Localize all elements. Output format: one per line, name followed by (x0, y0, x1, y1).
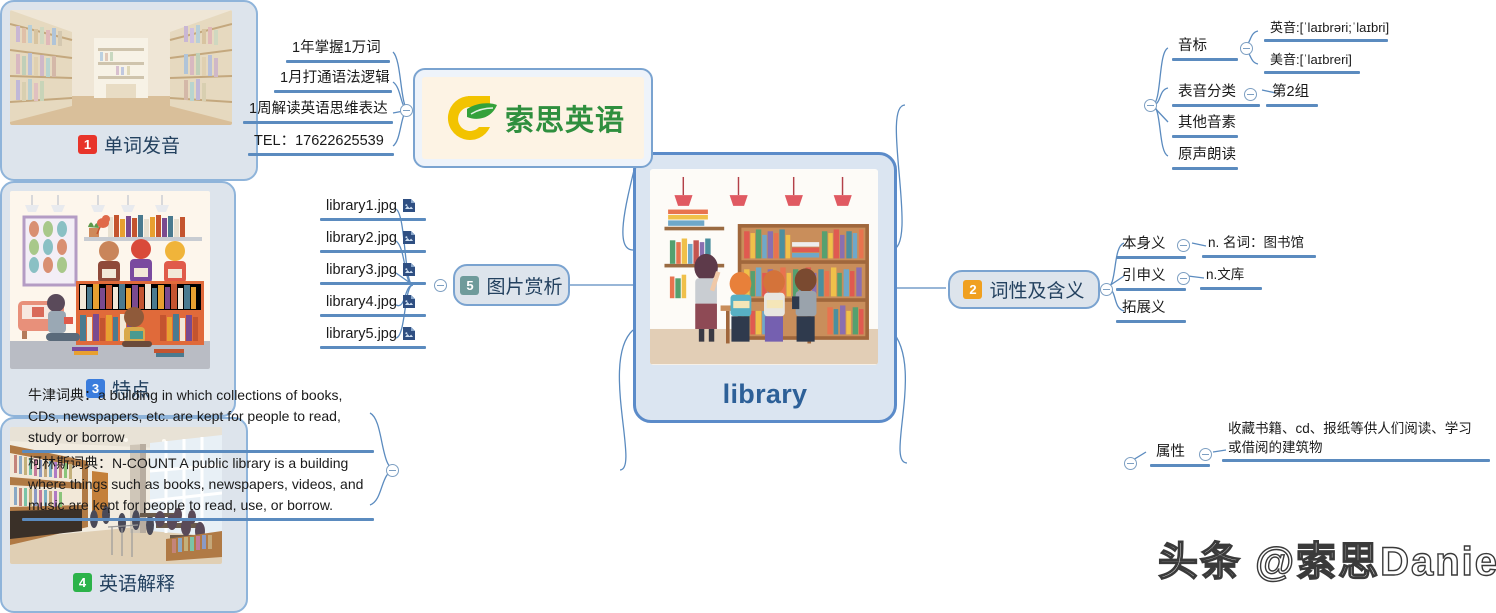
badge-5: 5 (460, 276, 479, 295)
leaf-underline (1172, 167, 1238, 170)
node-meaning-caption: 2 词性及含义 (963, 276, 1084, 303)
leaf-underline (1172, 58, 1238, 61)
node-pronunciation[interactable]: 1 单词发音 (0, 0, 258, 181)
phonetic-symbol-label[interactable]: 音标 (1172, 36, 1238, 61)
image-file-icon (402, 198, 416, 213)
promo-item-3[interactable]: TEL：17622625539 (248, 131, 394, 156)
image-file-2[interactable]: library3.jpg (320, 260, 426, 285)
leaf-underline (1172, 104, 1260, 107)
promo-item-2[interactable]: 1周解读英语思维表达 (243, 99, 393, 124)
leaf-underline (320, 346, 426, 349)
node-image-gallery-label: 图片赏析 (486, 272, 562, 299)
logo-text: 索思英语 (505, 97, 625, 139)
leaf-underline (1202, 255, 1316, 258)
promo-item-0[interactable]: 1年掌握1万词 (286, 38, 390, 63)
leaf-underline (1264, 39, 1388, 42)
badge-1: 1 (78, 135, 97, 154)
image-gallery-collapse-toggle[interactable] (434, 279, 447, 292)
explanation-collapse-toggle[interactable] (386, 464, 399, 477)
image-file-3[interactable]: library4.jpg (320, 292, 426, 317)
children-reading-illustration (10, 191, 210, 369)
promo-item-1[interactable]: 1月打通语法逻辑 (274, 68, 392, 93)
image-file-4[interactable]: library5.jpg (320, 324, 426, 349)
leaf-underline (1116, 320, 1186, 323)
node-meaning[interactable]: 2 词性及含义 (948, 270, 1100, 309)
features-attribute-value[interactable]: 收藏书籍、cd、报纸等供人们阅读、学习或借阅的建筑物 (1222, 420, 1490, 462)
phonetic-british[interactable]: 英音:[ˈlaɪbrəri;ˈlaɪbri] (1264, 19, 1388, 42)
leaf-underline (320, 218, 426, 221)
definition-oxford[interactable]: 牛津词典：a building in which collections of … (22, 385, 374, 453)
central-title: library (636, 379, 894, 410)
leaf-underline (1264, 71, 1360, 74)
meaning-extended-toggle[interactable] (1177, 272, 1190, 285)
central-node[interactable]: library (633, 152, 897, 423)
library-bookshelves-photo (10, 10, 232, 125)
leaf-underline (248, 153, 394, 156)
leaf-underline (22, 518, 374, 521)
badge-2: 2 (963, 280, 982, 299)
definition-collins[interactable]: 柯林斯词典：N-COUNT A public library is a buil… (22, 453, 374, 521)
image-file-icon (402, 294, 416, 309)
leaf-underline (274, 90, 392, 93)
phonetic-category-toggle[interactable] (1244, 88, 1257, 101)
leaf-underline (1200, 287, 1262, 290)
leaf-underline (1172, 135, 1238, 138)
node-features[interactable]: 3 特点 (0, 181, 236, 417)
node-pronunciation-caption: 1 单词发音 (10, 131, 248, 158)
leaf-underline (320, 314, 426, 317)
node-explanation-caption: 4 英语解释 (10, 569, 238, 596)
other-phonemes-label[interactable]: 其他音素 (1172, 113, 1238, 138)
mindmap-canvas: library 索思英语 1年掌握1万词 1月打通语法逻辑 1周解读英语思维表达… (0, 0, 1496, 591)
leaf-underline (1150, 464, 1210, 467)
pronunciation-collapse-toggle[interactable] (1144, 99, 1157, 112)
image-file-0[interactable]: library1.jpg (320, 196, 426, 221)
image-file-icon (402, 230, 416, 245)
features-attribute-toggle[interactable] (1199, 448, 1212, 461)
node-pronunciation-label: 单词发音 (104, 131, 180, 158)
badge-4: 4 (73, 573, 92, 592)
logo-collapse-toggle[interactable] (400, 104, 413, 117)
leaf-underline (1266, 104, 1318, 107)
node-image-gallery-caption: 5 图片赏析 (460, 272, 562, 299)
native-reading-label[interactable]: 原声朗读 (1172, 145, 1238, 170)
image-file-icon (402, 262, 416, 277)
leaf-underline (320, 282, 426, 285)
leaf-underline (1116, 256, 1186, 259)
meaning-collapse-toggle[interactable] (1100, 283, 1113, 296)
logo-inner: 索思英语 (422, 77, 644, 159)
node-meaning-label: 词性及含义 (989, 276, 1084, 303)
leaf-underline (286, 60, 390, 63)
phonetic-category-value[interactable]: 第2组 (1266, 82, 1318, 107)
leaf-underline (1116, 288, 1186, 291)
node-image-gallery[interactable]: 5 图片赏析 (453, 264, 570, 306)
meaning-literal-value[interactable]: n. 名词：图书馆 (1202, 234, 1316, 258)
logo-node[interactable]: 索思英语 (413, 68, 653, 168)
meaning-literal-label[interactable]: 本身义 (1116, 234, 1186, 259)
meaning-extended-value[interactable]: n.文库 (1200, 266, 1262, 290)
phonetic-american[interactable]: 美音:[ˈlaɪbreri] (1264, 51, 1360, 74)
central-library-illustration (650, 169, 878, 365)
leaf-underline (1222, 459, 1490, 462)
node-explanation-label: 英语解释 (99, 569, 175, 596)
features-collapse-toggle[interactable] (1124, 457, 1137, 470)
image-file-1[interactable]: library2.jpg (320, 228, 426, 253)
watermark: 头条 @索思Daniel (1158, 529, 1496, 587)
leaf-underline (243, 121, 393, 124)
phonetic-symbol-toggle[interactable] (1240, 42, 1253, 55)
sosi-logo-icon (441, 89, 499, 147)
meaning-expanded-label[interactable]: 拓展义 (1116, 298, 1186, 323)
image-file-icon (402, 326, 416, 341)
meaning-extended-label[interactable]: 引申义 (1116, 266, 1186, 291)
meaning-literal-toggle[interactable] (1177, 239, 1190, 252)
leaf-underline (320, 250, 426, 253)
